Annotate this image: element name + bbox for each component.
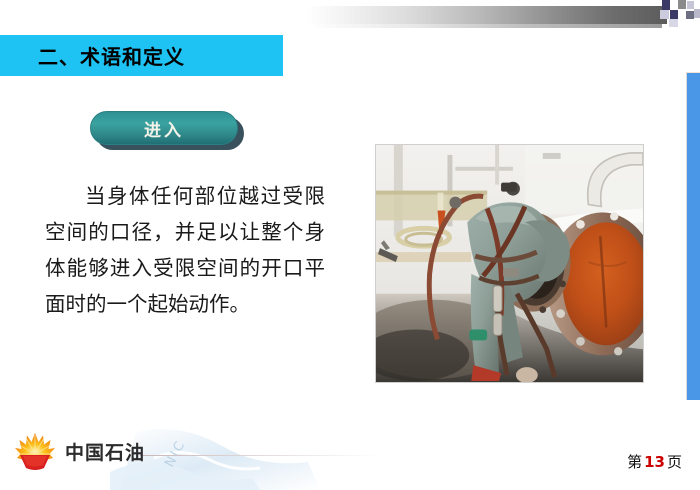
watermark-graphic-icon: NIC [110,418,410,490]
photo-illustration [376,145,643,382]
petrochina-sunburst-logo-icon [14,430,56,472]
section-title-bar: 二、术语和定义 [0,35,283,76]
definition-paragraph: 当身体任何部位越过受限空间的口径，并足以让整个身体能够进入受限空间的开口平面时的… [45,178,325,322]
page-label-suffix: 页 [667,453,682,471]
slide-root: { "slide": { "section_title": "二、术语和定义",… [0,0,700,490]
checker-squares-icon [660,0,700,30]
confined-space-entry-photo [375,144,644,383]
org-name: 中国石油 [65,438,145,465]
gradient-stripe-icon [307,6,667,24]
footer-divider-line [140,455,380,456]
term-badge-pill: 进入 [90,111,238,145]
footer-watermark: NIC [110,418,410,490]
page-title: 二、术语和定义 [0,41,185,70]
footer-branding: 中国石油 [14,430,145,472]
watermark-text: NIC [162,438,189,470]
page-number: 第13页 [627,451,682,472]
page-number-value: 13 [642,453,667,471]
term-badge-label: 进入 [144,116,184,141]
gradient-stripe-secondary-icon [307,24,662,28]
term-badge: 进入 [90,111,245,153]
page-label-prefix: 第 [627,453,642,471]
vertical-blue-band-icon [686,72,700,400]
